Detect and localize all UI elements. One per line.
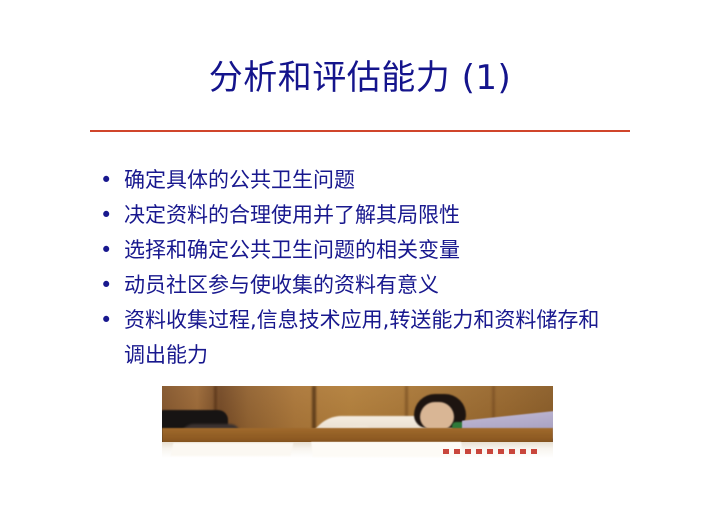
paper-sheet [311,442,463,457]
list-item: • 资料收集过程,信息技术应用,转送能力和资料储存和调出能力 [96,303,636,373]
list-item: • 决定资料的合理使用并了解其局限性 [96,198,636,233]
list-item-label: 动员社区参与使收集的资料有意义 [124,268,636,303]
list-item: • 动员社区参与使收集的资料有意义 [96,268,636,303]
title-divider [90,130,630,132]
bullet-dot-icon: • [100,303,118,338]
bullet-dot-icon: • [100,233,118,268]
slide-photo [162,386,553,458]
person-face [420,402,454,430]
bullet-dot-icon: • [100,198,118,233]
list-item: • 选择和确定公共卫生问题的相关变量 [96,233,636,268]
list-item-label: 资料收集过程,信息技术应用,转送能力和资料储存和调出能力 [124,303,619,373]
list-item-label: 确定具体的公共卫生问题 [124,163,636,198]
list-item-label: 选择和确定公共卫生问题的相关变量 [124,233,636,268]
presentation-slide: 分析和评估能力 (1) • 确定具体的公共卫生问题 • 决定资料的合理使用并了解… [0,0,720,509]
page-title: 分析和评估能力 (1) [0,56,720,100]
paper-sheet [171,443,294,456]
bullet-dot-icon: • [100,268,118,303]
paper-red-text [443,449,539,454]
list-item: • 确定具体的公共卫生问题 [96,163,636,198]
bullet-dot-icon: • [100,163,118,198]
bullet-list: • 确定具体的公共卫生问题 • 决定资料的合理使用并了解其局限性 • 选择和确定… [96,163,636,373]
photo-background [162,386,553,458]
list-item-label: 决定资料的合理使用并了解其局限性 [124,198,636,233]
